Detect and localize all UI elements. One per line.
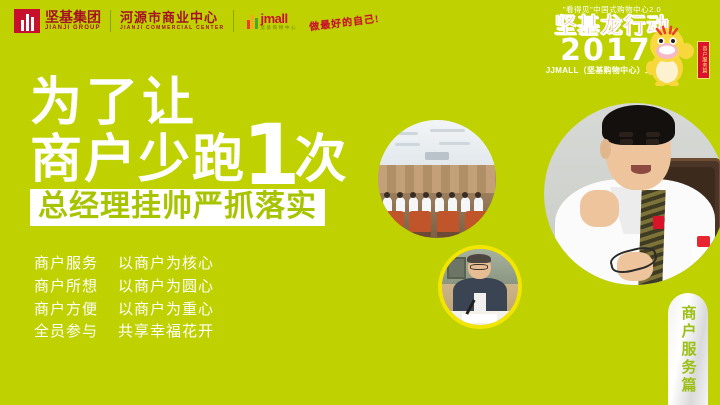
slogan-list: 商户服务 以商户为核心 商户所想 以商户为圆心 商户方便 以商户为重心 全员参与… [34,253,214,344]
slogan-left: 商户方便 [34,299,118,322]
headline-block: 为了让 商户少跑 1 次 总经理挂帅严抓落实 [30,78,430,226]
slogan-right: 共享幸福花开 [118,321,214,344]
logo-divider-2 [233,10,234,32]
photo-meeting-room [378,120,496,238]
jmall-icon [247,14,258,29]
campaign-red-badge: 商户服务篇 [697,41,710,79]
dragon-mascot-icon [642,24,696,86]
commercial-center-logo: 河源市商业中心 JIANJI COMMERCIAL CENTER [120,11,224,32]
slogan-right: 以商户为重心 [118,299,214,322]
side-section-tab-label: 商户服务篇 [681,305,696,395]
headline-line-2-right: 次 [294,136,348,186]
photo-executive-speaking [544,103,720,285]
logo-divider [110,10,111,32]
jmall-wordmark: jmall [260,12,297,25]
headline-line-3-banner: 总经理挂帅严抓落实 [30,189,325,226]
slogan-row: 商户服务 以商户为核心 [34,253,214,276]
handwritten-slogan: 做最好的自己! [308,9,380,32]
jmall-logo: jmall 坚基购物中心 [247,12,297,31]
headline-line-2-left: 商户少跑 [30,136,246,186]
slogan-row: 商户所想 以商户为圆心 [34,276,214,299]
campaign-red-badge-label: 商户服务篇 [701,46,707,74]
slogan-right: 以商户为核心 [118,253,214,276]
slogan-row: 全员参与 共享幸福花开 [34,321,214,344]
jianji-group-name-cn: 坚基集团 [45,10,101,25]
campaign-year-number: 2017 [560,33,652,68]
side-section-tab[interactable]: 商户服务篇 [668,293,708,405]
slogan-left: 商户服务 [34,253,118,276]
jianji-logo-mark [14,9,40,33]
jmall-subtitle: 坚基购物中心 [260,25,297,31]
headline-line-1: 为了让 [30,78,430,129]
jianji-group-name-en: JIANJI GROUP [45,25,101,32]
headline-line-2: 商户少跑 1 次 [30,125,430,185]
commercial-center-name-cn: 河源市商业中心 [120,11,224,25]
headline-line-3: 总经理挂帅严抓落实 [38,190,317,223]
photo-signing-document [438,245,522,329]
promotional-poster: 坚基集团 JIANJI GROUP 河源市商业中心 JIANJI COMMERC… [0,0,720,405]
headline-number: 1 [242,125,296,185]
slogan-left: 全员参与 [34,321,118,344]
slogan-right: 以商户为圆心 [118,276,214,299]
slogan-left: 商户所想 [34,276,118,299]
slogan-row: 商户方便 以商户为重心 [34,299,214,322]
commercial-center-name-en: JIANJI COMMERCIAL CENTER [120,25,224,32]
jianji-group-logo: 坚基集团 JIANJI GROUP [14,9,101,33]
